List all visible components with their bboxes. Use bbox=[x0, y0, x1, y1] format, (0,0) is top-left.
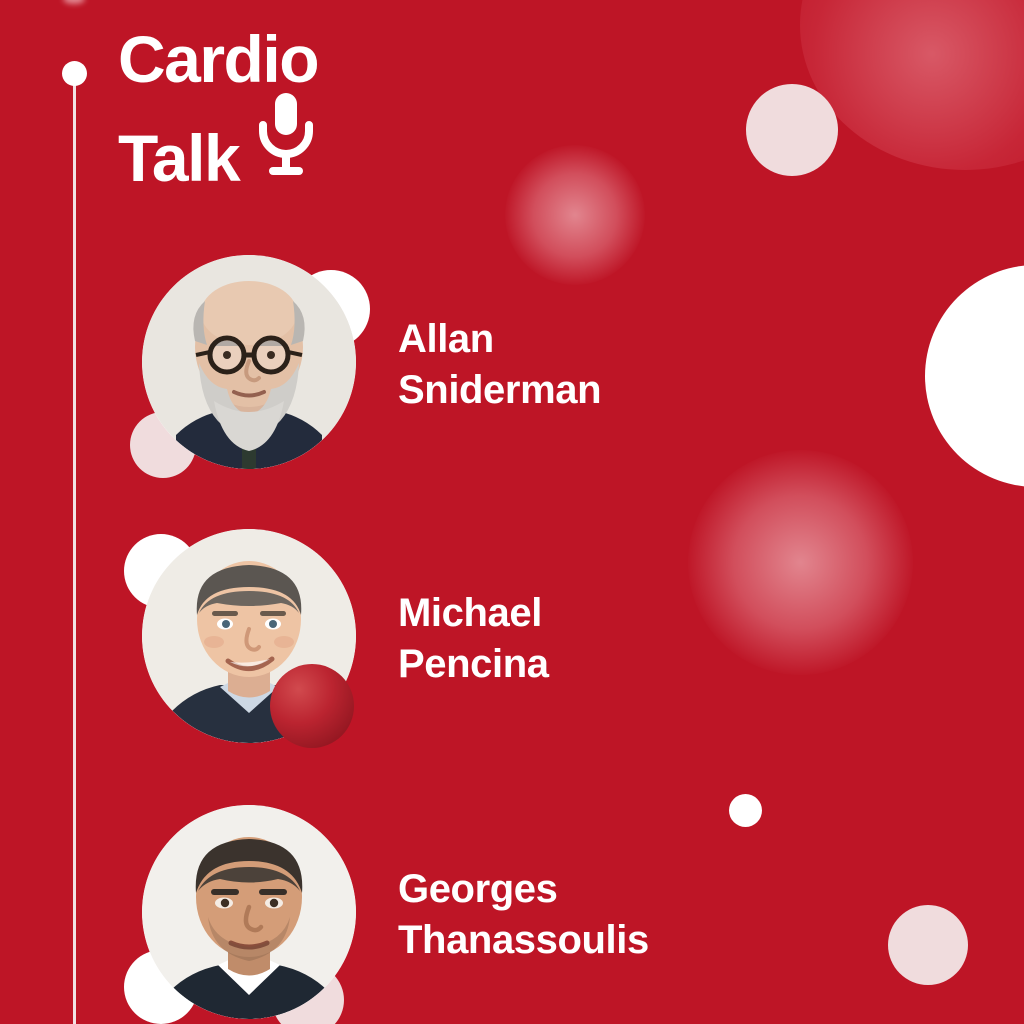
pale-circle-bottom-right bbox=[888, 905, 968, 985]
speaker-avatar-photo bbox=[142, 255, 356, 469]
speaker-name: Michael Pencina bbox=[398, 588, 549, 690]
avatar-frame bbox=[142, 255, 356, 469]
poster-title-block: Cardio Talk bbox=[118, 28, 538, 190]
speaker-last-name: Pencina bbox=[398, 639, 549, 690]
avatar bbox=[118, 524, 368, 754]
speaker-name: Georges Thanassoulis bbox=[398, 864, 649, 966]
microphone-icon bbox=[255, 91, 317, 182]
speaker-first-name: Michael bbox=[398, 588, 549, 639]
large-white-circle-right-edge bbox=[925, 265, 1024, 487]
speaker-last-name: Thanassoulis bbox=[398, 915, 649, 966]
speaker-first-name: Georges bbox=[398, 864, 649, 915]
pale-circle-upper-right bbox=[746, 84, 838, 176]
title-line-cardio: Cardio bbox=[118, 28, 538, 91]
speaker-row[interactable]: Georges Thanassoulis bbox=[118, 800, 738, 1024]
timeline-vertical-line bbox=[73, 74, 76, 1024]
speaker-avatar-photo bbox=[142, 805, 356, 1019]
timeline-top-glow bbox=[63, 0, 85, 4]
speaker-row[interactable]: Michael Pencina bbox=[118, 524, 738, 754]
timeline-dot-icon bbox=[62, 61, 87, 86]
speaker-name: Allan Sniderman bbox=[398, 314, 601, 416]
podcast-cover-poster: Cardio Talk bbox=[0, 0, 1024, 1024]
speaker-row[interactable]: Allan Sniderman bbox=[118, 250, 738, 480]
avatar bbox=[118, 250, 368, 480]
decor-red-sphere-bottom-right bbox=[270, 664, 354, 748]
speaker-last-name: Sniderman bbox=[398, 365, 601, 416]
soft-glow-top-right bbox=[800, 0, 1024, 170]
avatar-frame bbox=[142, 805, 356, 1019]
speaker-first-name: Allan bbox=[398, 314, 601, 365]
title-line-talk: Talk bbox=[118, 127, 239, 190]
avatar bbox=[118, 800, 368, 1024]
